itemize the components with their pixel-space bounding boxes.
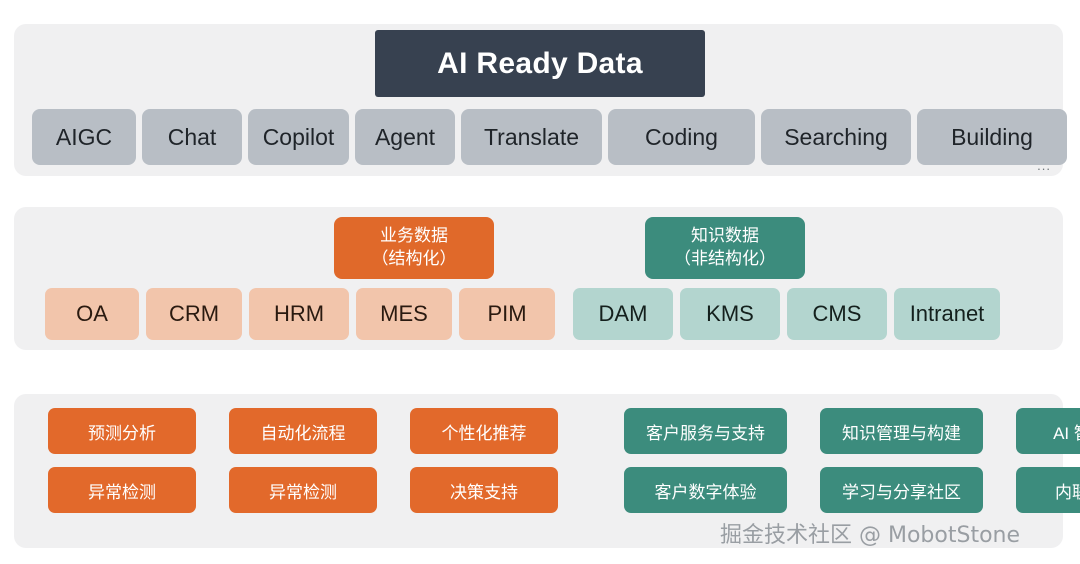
capability-pill-chat[interactable]: Chat	[142, 109, 242, 165]
scenario-column-knowledge-1: 客户服务与支持 客户数字体验	[624, 408, 787, 513]
data-source-panel: 业务数据 （结构化） 知识数据 （非结构化） OA CRM HRM MES PI…	[14, 207, 1063, 350]
knowledge-badge-line1: 知识数据	[691, 225, 759, 248]
scenario-card-anomaly-detection-1[interactable]: 异常检测	[48, 467, 196, 513]
source-pill-pim[interactable]: PIM	[459, 288, 555, 340]
diagram-canvas: AI Ready Data AIGC Chat Copilot Agent Tr…	[0, 0, 1080, 564]
capability-pill-translate[interactable]: Translate	[461, 109, 602, 165]
knowledge-badge-line2: （非结构化）	[674, 248, 776, 271]
scenario-column-business-2: 自动化流程 异常检测	[229, 408, 377, 513]
watermark: 掘金技术社区 @ MobotStone	[720, 517, 1020, 549]
category-badge-business-data: 业务数据 （结构化）	[334, 217, 494, 279]
page-title: AI Ready Data	[375, 30, 705, 97]
scenario-grid: 预测分析 异常检测 自动化流程 异常检测 个性化推荐 决策支持 客户服务与支持 …	[48, 408, 1023, 513]
source-pill-cms[interactable]: CMS	[787, 288, 887, 340]
business-badge-line2: （结构化）	[372, 248, 457, 271]
source-pill-oa[interactable]: OA	[45, 288, 139, 340]
scenario-column-knowledge-3: AI 智能搜索 内联网门户	[1016, 408, 1080, 513]
source-pill-crm[interactable]: CRM	[146, 288, 242, 340]
scenario-card-customer-digital-experience[interactable]: 客户数字体验	[624, 467, 787, 513]
scenario-card-customer-service-support[interactable]: 客户服务与支持	[624, 408, 787, 454]
scenario-card-ai-intelligent-search[interactable]: AI 智能搜索	[1016, 408, 1080, 454]
scenario-column-business-3: 个性化推荐 决策支持	[410, 408, 558, 513]
ai-consumption-panel: AI Ready Data AIGC Chat Copilot Agent Tr…	[14, 24, 1063, 176]
capability-pill-coding[interactable]: Coding	[608, 109, 755, 165]
capability-pill-copilot[interactable]: Copilot	[248, 109, 349, 165]
capability-pill-aigc[interactable]: AIGC	[32, 109, 136, 165]
capability-pill-row: AIGC Chat Copilot Agent Translate Coding…	[32, 109, 1045, 165]
scenario-card-anomaly-detection-2[interactable]: 异常检测	[229, 467, 377, 513]
source-pill-hrm[interactable]: HRM	[249, 288, 349, 340]
scenario-card-decision-support[interactable]: 决策支持	[410, 467, 558, 513]
capability-pill-searching[interactable]: Searching	[761, 109, 911, 165]
business-source-row: OA CRM HRM MES PIM	[45, 288, 555, 340]
category-badge-knowledge-data: 知识数据 （非结构化）	[645, 217, 805, 279]
scenario-card-predictive-analysis[interactable]: 预测分析	[48, 408, 196, 454]
more-capabilities-ellipsis-icon: ...	[1037, 162, 1051, 170]
scenario-card-automated-process[interactable]: 自动化流程	[229, 408, 377, 454]
scenario-card-learning-sharing-community[interactable]: 学习与分享社区	[820, 467, 983, 513]
source-pill-intranet[interactable]: Intranet	[894, 288, 1000, 340]
knowledge-source-row: DAM KMS CMS Intranet	[573, 288, 1000, 340]
source-pill-mes[interactable]: MES	[356, 288, 452, 340]
source-pill-kms[interactable]: KMS	[680, 288, 780, 340]
scenario-card-personalized-recommendation[interactable]: 个性化推荐	[410, 408, 558, 454]
scenario-card-knowledge-management[interactable]: 知识管理与构建	[820, 408, 983, 454]
source-pill-dam[interactable]: DAM	[573, 288, 673, 340]
capability-pill-agent[interactable]: Agent	[355, 109, 455, 165]
capability-pill-building[interactable]: Building	[917, 109, 1067, 165]
business-badge-line1: 业务数据	[380, 225, 448, 248]
scenario-column-knowledge-2: 知识管理与构建 学习与分享社区	[820, 408, 983, 513]
scenario-card-intranet-portal[interactable]: 内联网门户	[1016, 467, 1080, 513]
scenario-column-business-1: 预测分析 异常检测	[48, 408, 196, 513]
